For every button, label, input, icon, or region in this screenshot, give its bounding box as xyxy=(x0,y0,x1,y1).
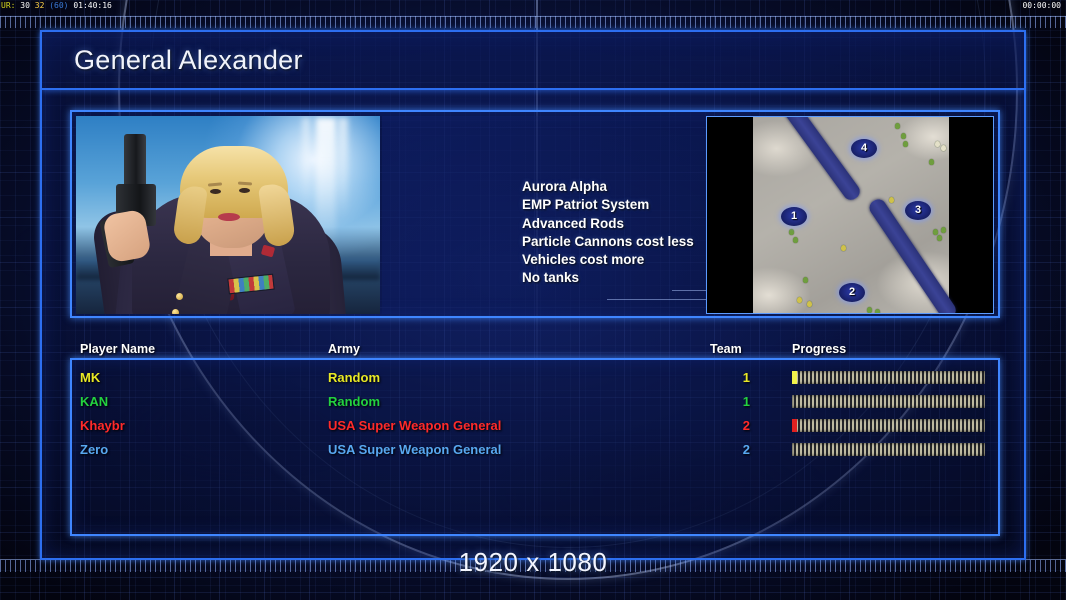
player-row[interactable]: ZeroUSA Super Weapon General2 xyxy=(72,438,998,462)
uniform-button-icon-b xyxy=(172,309,179,314)
figure-eye-right xyxy=(239,188,250,193)
map-prop-icon xyxy=(797,297,802,303)
map-start-position-1: 1 xyxy=(781,207,807,226)
player-row[interactable]: KhaybrUSA Super Weapon General2 xyxy=(72,414,998,438)
light-ray-icon-c xyxy=(302,118,310,206)
player-name-cell: Zero xyxy=(80,438,108,462)
player-team-cell: 1 xyxy=(728,390,750,414)
player-name-cell: MK xyxy=(80,366,100,390)
player-name-cell: KAN xyxy=(80,390,108,414)
map-start-position-3: 3 xyxy=(905,201,931,220)
main-frame: General Alexander xyxy=(40,30,1026,560)
uniform-button-icon-a xyxy=(176,293,183,300)
hud-seg-2: 32 xyxy=(35,1,45,10)
hud-seg-0: UR: xyxy=(1,1,15,10)
progress-fill xyxy=(792,419,797,432)
player-progress-bar xyxy=(792,395,985,408)
map-prop-icon xyxy=(895,123,900,129)
title-bar: General Alexander xyxy=(42,32,1024,90)
general-info-panel: Aurora Alpha EMP Patriot System Advanced… xyxy=(70,110,1000,318)
player-progress-bar xyxy=(792,371,985,384)
light-ray-icon-b xyxy=(338,118,348,218)
figure-eye-left xyxy=(210,189,221,194)
player-army-cell: USA Super Weapon General xyxy=(328,414,501,438)
player-progress-bar xyxy=(792,443,985,456)
figure-lips xyxy=(218,213,240,221)
map-prop-icon xyxy=(875,309,880,314)
map-prop-icon xyxy=(933,229,938,235)
game-timer: 00:00:00 xyxy=(1022,1,1061,10)
player-team-cell: 2 xyxy=(728,414,750,438)
map-start-position-2: 2 xyxy=(839,283,865,302)
page-title: General Alexander xyxy=(74,45,303,76)
player-row[interactable]: MKRandom1 xyxy=(72,366,998,390)
column-header-player-name: Player Name xyxy=(80,342,155,356)
player-army-cell: Random xyxy=(328,390,380,414)
map-prop-icon xyxy=(903,141,908,147)
player-army-cell: Random xyxy=(328,366,380,390)
top-ruler xyxy=(0,16,1066,28)
column-header-army: Army xyxy=(328,342,360,356)
map-prop-icon xyxy=(937,235,942,241)
map-preview[interactable]: 1234 xyxy=(706,116,994,314)
map-river-north xyxy=(779,116,863,203)
player-rows: MKRandom1KANRandom1KhaybrUSA Super Weapo… xyxy=(72,366,998,462)
column-header-team: Team xyxy=(710,342,742,356)
hud-seg-4: 01:40:16 xyxy=(73,1,112,10)
player-army-cell: USA Super Weapon General xyxy=(328,438,501,462)
map-prop-icon xyxy=(889,197,894,203)
map-prop-icon xyxy=(803,277,808,283)
map-prop-icon xyxy=(807,301,812,307)
player-list-header: Player Name Army Team Progress xyxy=(72,342,998,360)
map-terrain: 1234 xyxy=(753,117,949,314)
map-prop-icon xyxy=(935,141,940,147)
hud-seg-3: (60) xyxy=(49,1,68,10)
player-team-cell: 2 xyxy=(728,438,750,462)
map-prop-icon xyxy=(941,145,946,151)
top-ruler-line xyxy=(0,16,1066,17)
progress-fill xyxy=(792,371,797,384)
player-name-cell: Khaybr xyxy=(80,414,125,438)
map-prop-icon xyxy=(867,307,872,313)
player-progress-bar xyxy=(792,419,985,432)
general-portrait xyxy=(76,116,380,314)
game-lobby-screen: UR: 30 32 (60) 01:40:16 00:00:00 General… xyxy=(0,0,1066,600)
resolution-label: 1920 x 1080 xyxy=(0,547,1066,578)
map-prop-icon xyxy=(901,133,906,139)
map-prop-icon xyxy=(793,237,798,243)
map-prop-icon xyxy=(929,159,934,165)
player-row[interactable]: KANRandom1 xyxy=(72,390,998,414)
map-prop-icon xyxy=(841,245,846,251)
player-list-panel: Player Name Army Team Progress MKRandom1… xyxy=(70,358,1000,536)
map-prop-icon xyxy=(941,227,946,233)
player-team-cell: 1 xyxy=(728,366,750,390)
map-start-position-4: 4 xyxy=(851,139,877,158)
hud-seg-1: 30 xyxy=(20,1,30,10)
map-prop-icon xyxy=(789,229,794,235)
column-header-progress: Progress xyxy=(792,342,846,356)
debug-overlay-text: UR: 30 32 (60) 01:40:16 xyxy=(1,1,112,10)
